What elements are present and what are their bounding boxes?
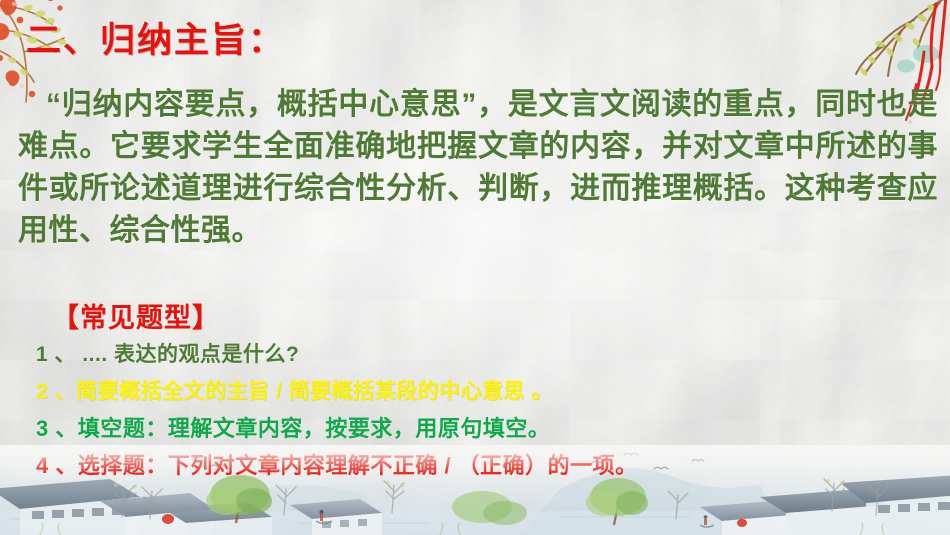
question-types-list: 1 、 .... 表达的观点是什么? 2 、简要概括全文的主旨 / 简要概括某段… [36, 336, 946, 484]
list-item: 1 、 .... 表达的观点是什么? [36, 336, 946, 373]
list-item: 2 、简要概括全文的主旨 / 简要概括某段的中心意思 。 [36, 373, 946, 410]
list-item: 4 、选择题：下列对文章内容理解不正确 / （正确）的一项。 [36, 447, 946, 484]
page-title: 二、归纳主旨： [26, 12, 285, 63]
slide-canvas: 二、归纳主旨： “归纳内容要点，概括中心意思”，是文言文阅读的重点，同时也是难点… [0, 0, 950, 535]
list-item: 3 、填空题：理解文章内容，按要求，用原句填空。 [36, 410, 946, 447]
body-paragraph: “归纳内容要点，概括中心意思”，是文言文阅读的重点，同时也是难点。它要求学生全面… [18, 84, 938, 252]
question-types-heading: 【常见题型】 [52, 296, 220, 335]
